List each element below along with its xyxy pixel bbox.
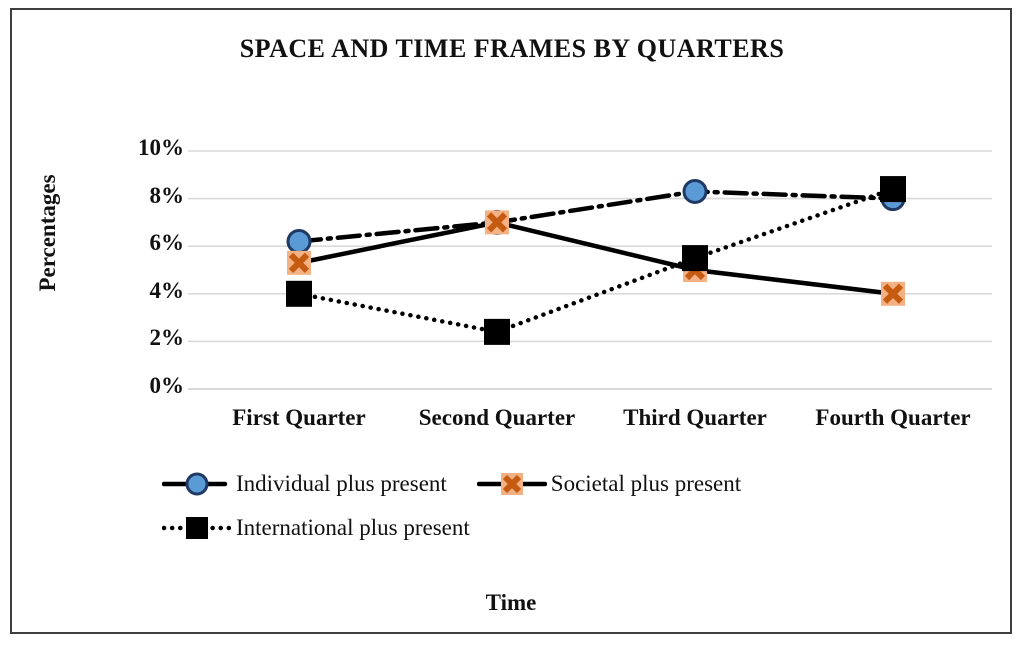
legend-item[interactable]: International plus present xyxy=(162,515,470,541)
y-tick-label: 6% xyxy=(104,230,184,256)
legend-marker-icon xyxy=(477,471,547,497)
legend-item[interactable]: Individual plus present xyxy=(162,471,447,497)
x-axis-label: Time xyxy=(12,590,1010,616)
x-category-label: First Quarter xyxy=(200,405,398,431)
legend-marker-icon xyxy=(162,515,232,541)
legend-label: International plus present xyxy=(236,515,470,541)
x-category-label: Fourth Quarter xyxy=(794,405,992,431)
y-tick-label: 4% xyxy=(104,278,184,304)
x-category-label: Second Quarter xyxy=(398,405,596,431)
legend-label: Societal plus present xyxy=(551,471,741,497)
legend-label: Individual plus present xyxy=(236,471,447,497)
y-tick-label: 8% xyxy=(104,183,184,209)
legend-item[interactable]: Societal plus present xyxy=(477,471,741,497)
legend-row: International plus present xyxy=(162,506,962,550)
y-tick-label: 10% xyxy=(104,135,184,161)
y-tick-label: 2% xyxy=(104,325,184,351)
legend-row: Individual plus presentSocietal plus pre… xyxy=(162,462,962,506)
y-tick-label: 0% xyxy=(104,373,184,399)
legend-marker-icon xyxy=(162,471,232,497)
figure-frame: SPACE AND TIME FRAMES BY QUARTERS Percen… xyxy=(10,8,1012,634)
x-category-label: Third Quarter xyxy=(596,405,794,431)
chart-legend: Individual plus presentSocietal plus pre… xyxy=(162,462,962,550)
